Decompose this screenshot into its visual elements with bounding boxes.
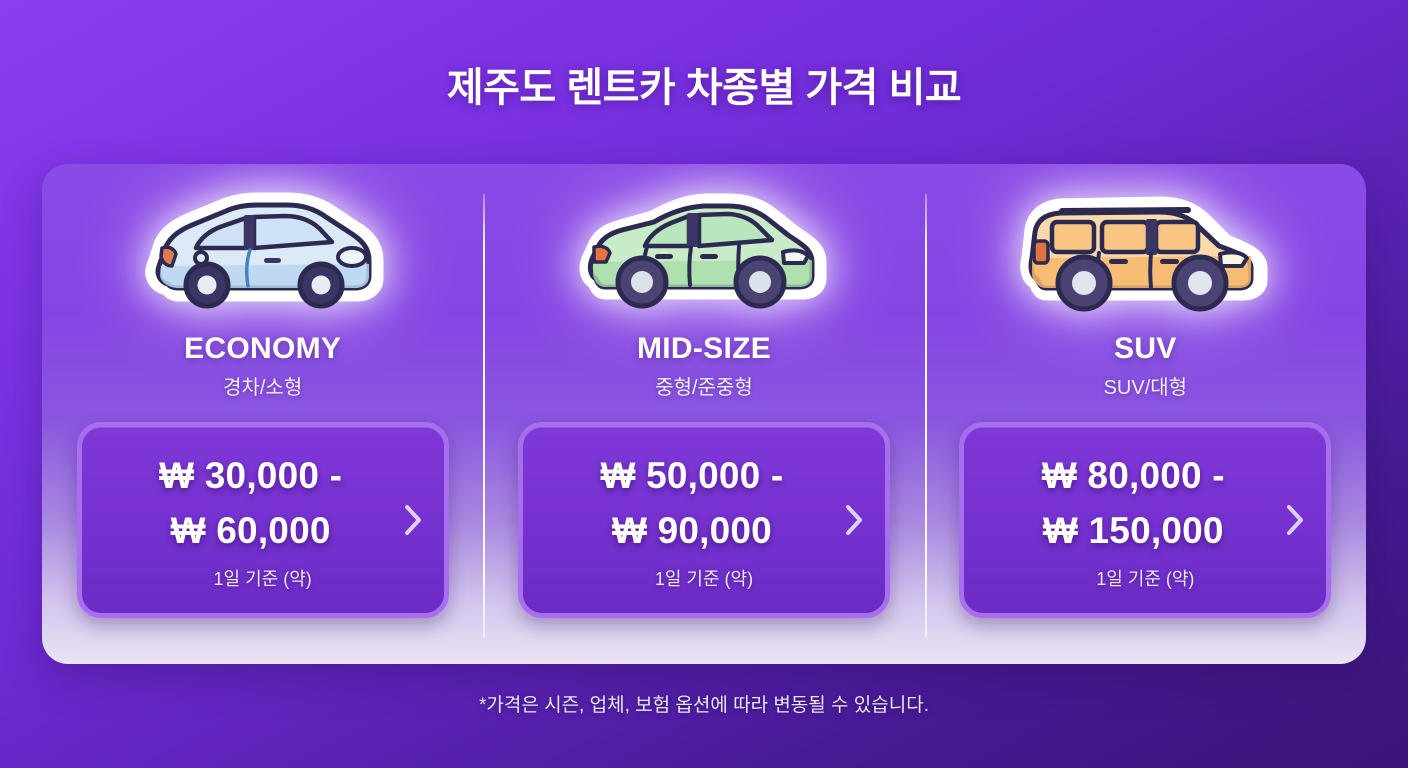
price-box-economy[interactable]: ₩ 30,000 - ₩ 60,000 1일 기준 (약) [77,422,449,618]
price-line-1: ₩ 30,000 - [159,455,342,496]
page-title: 제주도 렌트카 차종별 가격 비교 [0,0,1408,113]
card-economy[interactable]: ECONOMY 경차/소형 ₩ 30,000 - ₩ 60,000 1일 기준 … [42,164,483,664]
price-disclaimer: *가격은 시즌, 업체, 보험 옵션에 따라 변동될 수 있습니다. [0,690,1408,717]
price-range-economy: ₩ 30,000 - ₩ 60,000 [149,449,376,559]
price-line-1: ₩ 80,000 - [1042,455,1225,496]
price-unit-suv: 1일 기준 (약) [1096,565,1194,591]
card-midsize[interactable]: MID-SIZE 중형/준중형 ₩ 50,000 - ₩ 90,000 1일 기… [483,164,924,664]
card-subtitle-midsize: 중형/준중형 [655,371,753,400]
price-line-2: ₩ 150,000 [1043,510,1224,551]
card-subtitle-economy: 경차/소형 [223,371,302,400]
price-line-1: ₩ 50,000 - [600,455,783,496]
card-title-midsize: MID-SIZE [637,332,771,366]
price-box-suv[interactable]: ₩ 80,000 - ₩ 150,000 1일 기준 (약) [959,422,1331,618]
comparison-panel: ECONOMY 경차/소형 ₩ 30,000 - ₩ 60,000 1일 기준 … [42,164,1366,664]
price-line-2: ₩ 60,000 [171,510,331,551]
chevron-right-icon[interactable] [843,503,865,537]
chevron-right-icon[interactable] [402,503,424,537]
card-subtitle-suv: SUV/대형 [1104,371,1187,400]
midsize-car-icon [579,186,829,326]
card-title-suv: SUV [1114,332,1177,366]
price-box-midsize[interactable]: ₩ 50,000 - ₩ 90,000 1일 기준 (약) [518,422,890,618]
price-unit-midsize: 1일 기준 (약) [655,565,753,591]
card-suv[interactable]: SUV SUV/대형 ₩ 80,000 - ₩ 150,000 1일 기준 (약… [925,164,1366,664]
chevron-right-icon[interactable] [1284,503,1306,537]
price-range-suv: ₩ 80,000 - ₩ 150,000 [1032,449,1259,559]
economy-car-icon [138,186,388,326]
price-range-midsize: ₩ 50,000 - ₩ 90,000 [590,449,817,559]
suv-car-icon [1020,186,1270,326]
price-line-2: ₩ 90,000 [612,510,772,551]
price-unit-economy: 1일 기준 (약) [214,565,312,591]
card-title-economy: ECONOMY [184,332,341,366]
